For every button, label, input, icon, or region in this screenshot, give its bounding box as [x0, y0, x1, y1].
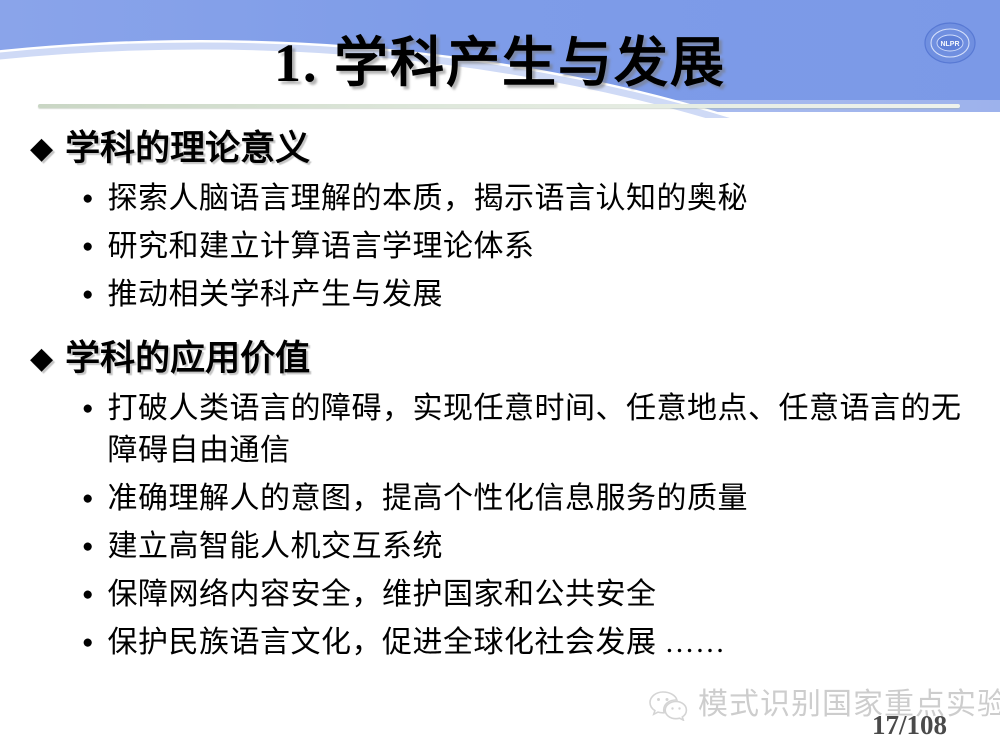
list-item: ● 推动相关学科产生与发展 [0, 274, 1000, 316]
slide-title: 1. 学科产生与发展 [0, 32, 1000, 94]
title-divider [38, 104, 960, 108]
heading-level1-label: 学科的应用价值 [65, 336, 310, 382]
disc-bullet-icon: ● [82, 226, 93, 268]
list-item-label: 准确理解人的意图，提高个性化信息服务的质量 [107, 478, 748, 520]
bullet-group-theory: ◆ 学科的理论意义 ● 探索人脑语言理解的本质，揭示语言认知的奥秘 ● 研究和建… [0, 126, 1000, 316]
slide-body: ◆ 学科的理论意义 ● 探索人脑语言理解的本质，揭示语言认知的奥秘 ● 研究和建… [0, 122, 1000, 664]
list-item-label: 保障网络内容安全，维护国家和公共安全 [107, 574, 656, 616]
list-item-label: 保护民族语言文化，促进全球化社会发展 …… [107, 622, 725, 664]
list-item-label: 建立高智能人机交互系统 [107, 526, 443, 568]
diamond-bullet-icon: ◆ [30, 126, 53, 172]
disc-bullet-icon: ● [82, 178, 93, 220]
list-item: ● 研究和建立计算语言学理论体系 [0, 226, 1000, 268]
heading-level1-label: 学科的理论意义 [65, 126, 310, 172]
list-item-label: 打破人类语言的障碍，实现任意时间、任意地点、任意语言的无障碍自由通信 [107, 388, 970, 472]
list-item: ● 建立高智能人机交互系统 [0, 526, 1000, 568]
list-item: ● 探索人脑语言理解的本质，揭示语言认知的奥秘 [0, 178, 1000, 220]
list-item-label: 推动相关学科产生与发展 [107, 274, 443, 316]
list-item: ● 打破人类语言的障碍，实现任意时间、任意地点、任意语言的无障碍自由通信 [0, 388, 1000, 472]
group-spacer [0, 316, 1000, 332]
heading-level1: ◆ 学科的理论意义 [0, 126, 1000, 172]
disc-bullet-icon: ● [82, 274, 93, 316]
page-number: 17/108 [872, 710, 947, 740]
list-item-label: 探索人脑语言理解的本质，揭示语言认知的奥秘 [107, 178, 748, 220]
list-item: ● 保障网络内容安全，维护国家和公共安全 [0, 574, 1000, 616]
disc-bullet-icon: ● [82, 388, 93, 430]
disc-bullet-icon: ● [82, 574, 93, 616]
list-item-label: 研究和建立计算语言学理论体系 [107, 226, 534, 268]
diamond-bullet-icon: ◆ [30, 336, 53, 382]
list-item: ● 准确理解人的意图，提高个性化信息服务的质量 [0, 478, 1000, 520]
disc-bullet-icon: ● [82, 478, 93, 520]
wechat-icon [648, 689, 688, 721]
slide-canvas: NLPR 1. 学科产生与发展 ◆ 学科的理论意义 ● 探索人脑语言理解的本质，… [0, 0, 1000, 750]
watermark-label: 模式识别国家重点实验室 [698, 688, 1000, 722]
wechat-watermark: 模式识别国家重点实验室 [648, 688, 1000, 722]
disc-bullet-icon: ● [82, 622, 93, 664]
heading-level1: ◆ 学科的应用价值 [0, 336, 1000, 382]
bullet-group-application: ◆ 学科的应用价值 ● 打破人类语言的障碍，实现任意时间、任意地点、任意语言的无… [0, 336, 1000, 664]
list-item: ● 保护民族语言文化，促进全球化社会发展 …… [0, 622, 1000, 664]
disc-bullet-icon: ● [82, 526, 93, 568]
